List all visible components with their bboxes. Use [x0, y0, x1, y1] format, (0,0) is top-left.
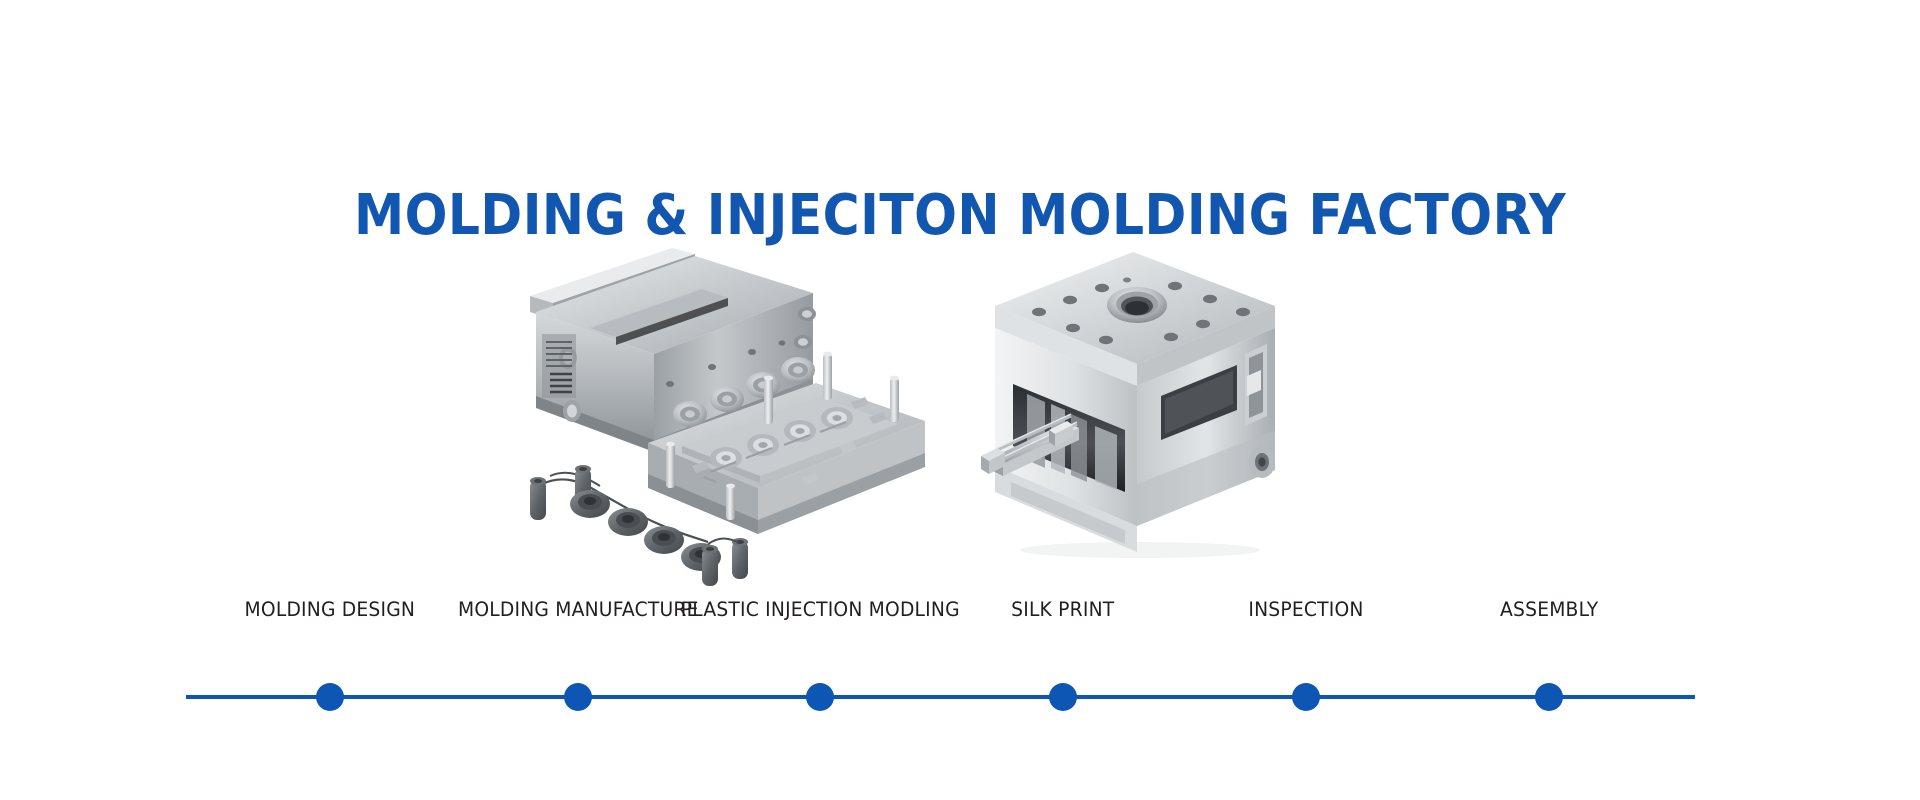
mold-base-assembly-image: [975, 244, 1325, 584]
process-step-dot[interactable]: [1292, 683, 1320, 711]
process-step-dot[interactable]: [1049, 683, 1077, 711]
process-step-label: INSPECTION: [1248, 600, 1363, 620]
mold-spring-pocket: [542, 334, 576, 398]
timeline-line: [186, 695, 1695, 699]
process-step-dot[interactable]: [564, 683, 592, 711]
sprue-bushing: [1107, 287, 1167, 323]
process-step-label: MOLDING DESIGN: [245, 600, 416, 620]
product-gallery: [0, 236, 1920, 604]
process-step-label: SILK PRINT: [1011, 600, 1114, 620]
process-step-label: ASSEMBLY: [1500, 600, 1598, 620]
process-step-dot[interactable]: [806, 683, 834, 711]
process-timeline: MOLDING DESIGN MOLDING MANUFACTURE PLAST…: [0, 600, 1920, 740]
process-step-dot[interactable]: [316, 683, 344, 711]
process-step-label: MOLDING MANUFACTURE: [458, 600, 699, 620]
page-root: MOLDING & INJECITON MOLDING FACTORY: [0, 0, 1920, 800]
process-step-dot[interactable]: [1535, 683, 1563, 711]
mold-open-halves-image: [520, 236, 940, 586]
process-step-assembly[interactable]: ASSEMBLY: [1399, 600, 1699, 621]
side-guide-boss: [1249, 446, 1275, 478]
